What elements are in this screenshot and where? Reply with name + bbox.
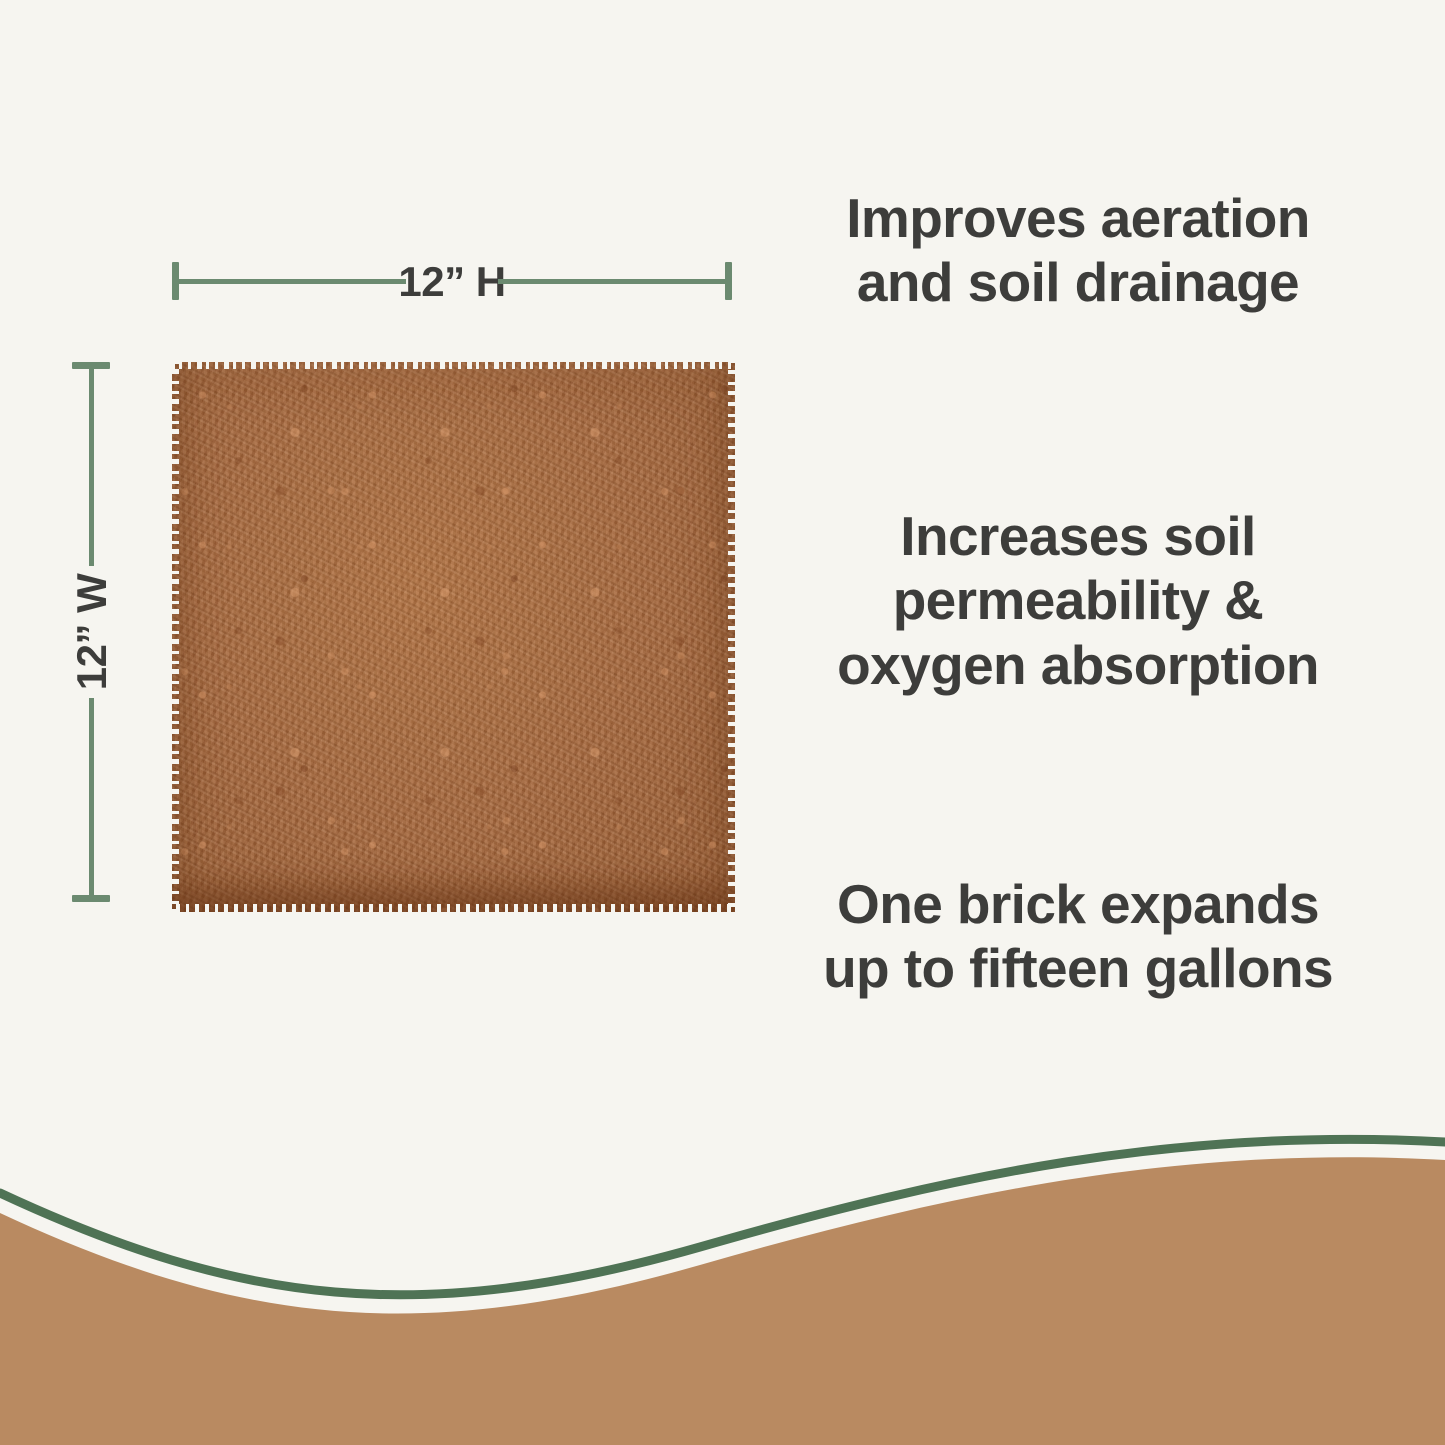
brick-edge-left [169, 360, 179, 914]
benefit-aeration-drainage: Improves aeration and soil drainage [778, 186, 1378, 315]
brick-edge-right [728, 360, 738, 914]
benefit-line: permeability & [778, 568, 1378, 632]
benefit-line: up to fifteen gallons [778, 936, 1378, 1000]
wave-svg [0, 1115, 1445, 1445]
dimension-vertical: 12” W [72, 362, 112, 902]
benefit-expansion-capacity: One brick expands up to fifteen gallons [778, 872, 1378, 1001]
dimension-cap-bottom [72, 895, 110, 902]
benefit-line: Improves aeration [778, 186, 1378, 250]
dimension-rule-left [178, 279, 406, 284]
brick-edge-top [170, 359, 737, 369]
benefit-line: Increases soil [778, 504, 1378, 568]
wave-tan-fill [0, 1157, 1445, 1445]
benefit-line: and soil drainage [778, 250, 1378, 314]
brick-surface [172, 362, 735, 912]
dimension-rule-right [498, 279, 726, 284]
benefit-line: One brick expands [778, 872, 1378, 936]
dimension-rule-upper [89, 368, 94, 566]
dimension-horizontal: 12” H [172, 262, 732, 302]
dimension-rule-lower [89, 698, 94, 896]
dimension-label-width: 12” W [68, 574, 116, 691]
infographic-page: 12” H 12” W Improves aeration and soil d… [0, 0, 1445, 1445]
coir-brick-image [172, 362, 735, 912]
dimension-cap-right [725, 262, 732, 300]
benefit-line: oxygen absorption [778, 633, 1378, 697]
brick-edge-bottom [170, 904, 737, 915]
dimension-label-height: 12” H [398, 258, 505, 306]
decorative-wave [0, 1115, 1445, 1445]
benefit-permeability-oxygen: Increases soil permeability & oxygen abs… [778, 504, 1378, 697]
